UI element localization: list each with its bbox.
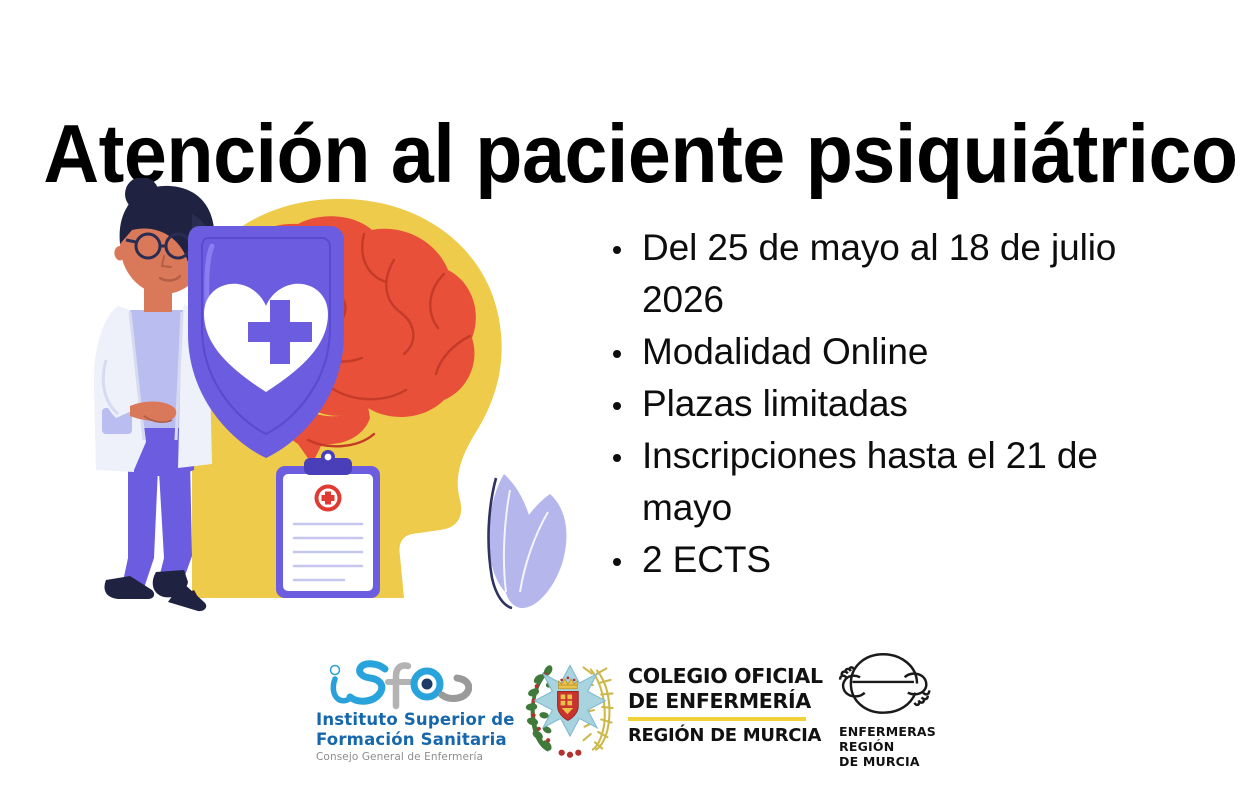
embracing-hands-e-icon — [837, 646, 937, 724]
isfos-line-2: Formación Sanitaria — [316, 730, 481, 750]
colegio-line-2: DE ENFERMERÍA — [628, 689, 808, 714]
logo-enfermeras-region-murcia: ENFERMERAS REGIÓN DE MURCIA — [833, 646, 958, 769]
list-item: 2 ECTS — [604, 534, 1164, 586]
enfermeras-line-3: DE MURCIA — [839, 754, 958, 769]
isfos-subtitle: Consejo General de Enfermería — [316, 750, 481, 765]
enfermeras-line-2: REGIÓN — [839, 739, 958, 754]
leaf-decoration — [489, 474, 567, 608]
logo-isfos: Instituto Superior de Formación Sanitari… — [316, 658, 481, 765]
colegio-line-3: REGIÓN DE MURCIA — [628, 725, 808, 747]
logo-colegio-oficial-enfermeria: COLEGIO OFICIAL DE ENFERMERÍA REGIÓN DE … — [518, 650, 808, 765]
logo-row: Instituto Superior de Formación Sanitari… — [0, 640, 1240, 790]
clipboard-icon — [276, 450, 380, 598]
isfos-line-1: Instituto Superior de — [316, 710, 481, 730]
colegio-divider — [628, 717, 806, 721]
enfermeras-line-1: ENFERMERAS — [839, 724, 958, 739]
colegio-emblem-icon — [518, 656, 622, 760]
hero-illustration — [72, 178, 602, 618]
isfos-wordmark-icon — [322, 658, 472, 710]
list-item: Del 25 de mayo al 18 de julio 2026 — [604, 222, 1164, 326]
course-details-list: Del 25 de mayo al 18 de julio 2026 Modal… — [604, 222, 1164, 586]
list-item: Inscripciones hasta el 21 de mayo — [604, 430, 1164, 534]
poster-canvas: Atención al paciente psiquiátrico — [0, 0, 1240, 806]
list-item: Plazas limitadas — [604, 378, 1164, 430]
colegio-line-1: COLEGIO OFICIAL — [628, 664, 808, 689]
list-item: Modalidad Online — [604, 326, 1164, 378]
